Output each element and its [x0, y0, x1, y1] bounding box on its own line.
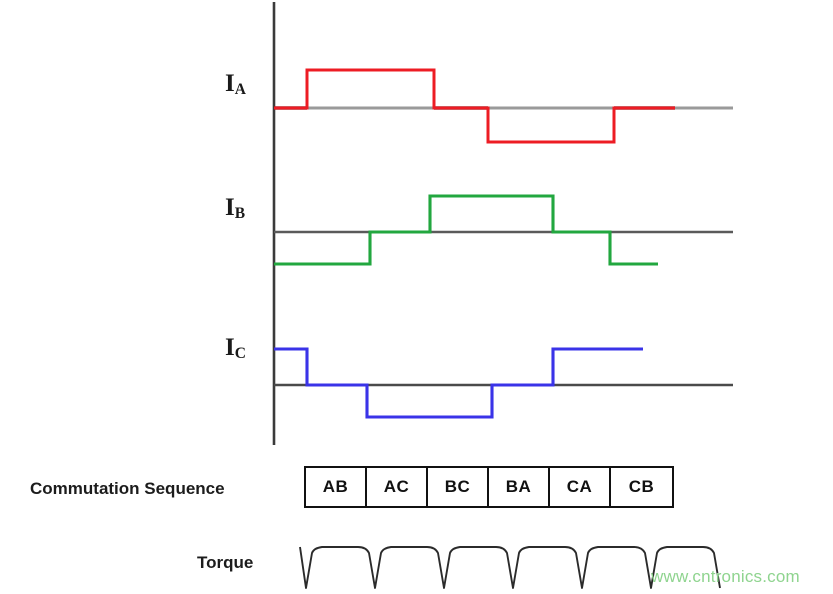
figure-canvas: IA IB IC Commutation Sequence AB AC BC B… [0, 0, 833, 594]
torque-plot [0, 0, 833, 594]
site-watermark: www.cntronics.com [651, 567, 800, 587]
